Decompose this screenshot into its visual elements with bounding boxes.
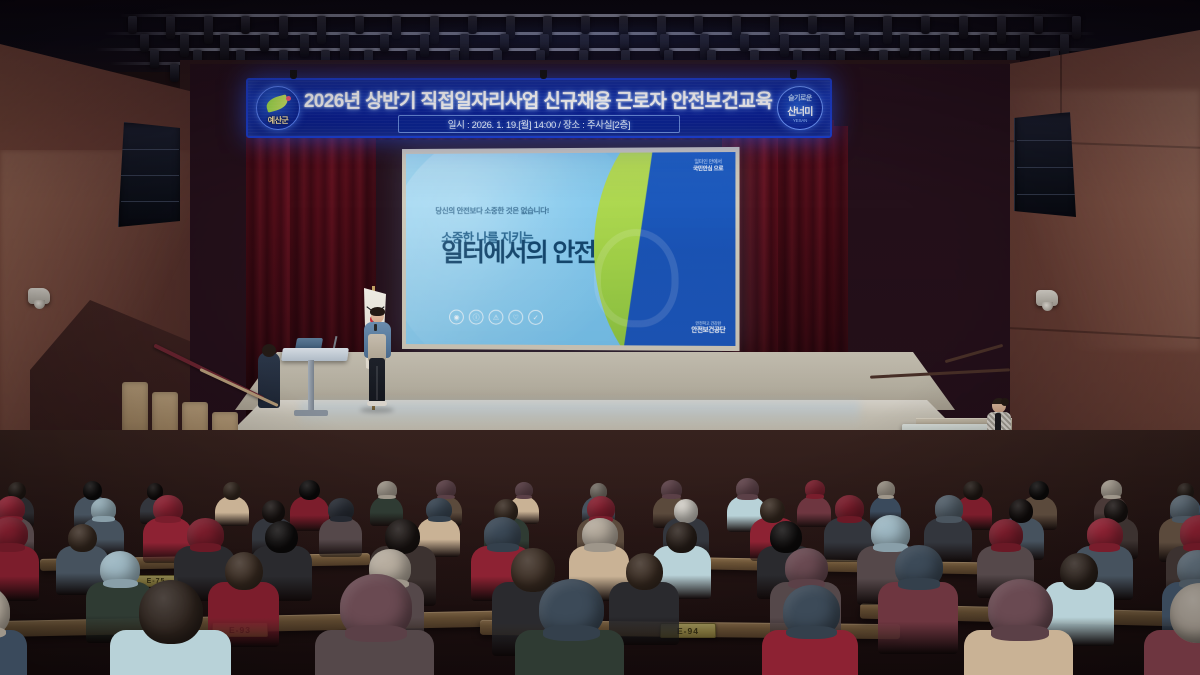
line-array-speaker <box>118 122 182 229</box>
audience-member-hat <box>539 579 604 639</box>
audience-member-hat <box>988 579 1053 638</box>
stage-light-fixture <box>1034 16 1043 34</box>
slogan-line1: 슬기로운 <box>788 93 812 103</box>
presenter-speaking <box>362 308 392 410</box>
audience-member-body <box>319 518 362 557</box>
slogan-line3: YESAN <box>793 118 807 123</box>
audience-member-hat <box>436 480 456 498</box>
banner-subtitle: 일시 : 2026. 1. 19.[월] 14:00 / 장소 : 주사실[2층… <box>398 115 680 133</box>
audience-member-body <box>878 582 958 654</box>
audience-member-head <box>223 482 241 500</box>
audience-member-hat <box>582 518 618 551</box>
audience-member-body <box>215 496 249 526</box>
audience-member-hat <box>805 480 825 499</box>
staff-hair-bun <box>1001 398 1009 406</box>
audience-member-hat <box>377 481 397 499</box>
audience-member-head <box>674 499 699 524</box>
audience-member-hat <box>989 519 1023 550</box>
audience-member-head <box>225 552 263 590</box>
audience-member-hat <box>153 495 182 522</box>
lighting-truss <box>120 14 1080 17</box>
led-banner: 예산군 2026년 상반기 직접일자리사업 신규채용 근로자 안전보건교육 일시… <box>246 78 832 138</box>
banner-mount <box>790 70 797 79</box>
ceiling-glow <box>200 18 1000 58</box>
audience-member-body <box>0 546 39 601</box>
audience-member-hat <box>187 518 223 551</box>
screen-glare <box>406 152 736 346</box>
audience-member-hat <box>0 517 28 550</box>
audience-member-hat <box>340 574 411 639</box>
audience-member-hat <box>661 480 682 499</box>
audience-member-head <box>299 480 320 501</box>
banner-mount <box>290 70 297 79</box>
audience-member-head <box>770 521 802 553</box>
stage-light-fixture <box>128 16 137 34</box>
audience-member-body <box>0 630 27 675</box>
audience-member-head <box>1060 553 1098 591</box>
audience-member-head <box>963 481 983 501</box>
audience-member-hat <box>1087 518 1122 550</box>
audience-member-hat <box>783 585 841 637</box>
projection-screen: 일터인 안에서 국민안심 으로 당신의 안전보다 소중한 것은 없습니다! 소중… <box>402 147 740 351</box>
slogan-line2: 산너미 <box>787 103 812 118</box>
audience-member-hat <box>877 481 896 498</box>
stage-light-fixture <box>180 34 189 57</box>
presentation-slide: 일터인 안에서 국민안심 으로 당신의 안전보다 소중한 것은 없습니다! 소중… <box>406 152 736 346</box>
audience-member-hat <box>328 498 354 521</box>
stage-light-fixture <box>140 34 149 52</box>
audience-member-head <box>666 522 697 553</box>
audience-member-hat <box>895 545 943 589</box>
audience-member-body <box>797 496 831 527</box>
audience-member-head <box>139 580 204 645</box>
yesan-gun-label: 예산군 <box>268 115 289 129</box>
audience-member-hat <box>91 498 117 521</box>
banner-title: 2026년 상반기 직접일자리사업 신규채용 근로자 안전보건교육 <box>304 85 772 113</box>
stage-light-fixture <box>1072 16 1081 39</box>
presenter-shoes <box>367 401 387 406</box>
stage-assistant-head <box>262 344 276 357</box>
podium-base <box>294 410 328 416</box>
handheld-microphone <box>374 324 377 331</box>
audience-member-hat <box>935 495 964 521</box>
stage-light-fixture <box>170 64 179 82</box>
yesan-slogan-logo: 슬기로운 산너미 YESAN <box>777 86 823 130</box>
audience-member-hat <box>100 551 140 588</box>
audience-member-hat <box>515 482 533 499</box>
security-camera <box>1036 290 1058 306</box>
audience-member-hat <box>871 515 910 551</box>
audience-member-hat <box>736 478 760 499</box>
podium-leg <box>308 360 314 412</box>
audience-member-hat <box>785 548 828 587</box>
laptop-podium <box>281 348 349 361</box>
audience-area: E-93 E-94 E-75 <box>0 430 1200 675</box>
auditorium-photo: 일터인 안에서 국민안심 으로 당신의 안전보다 소중한 것은 없습니다! 소중… <box>0 0 1200 675</box>
stage-light-fixture <box>166 16 175 39</box>
presenter-hair <box>370 307 385 316</box>
audience-member-hat <box>426 498 452 522</box>
yesan-gun-emblem-icon: 예산군 <box>256 86 300 130</box>
audience-member-head <box>68 524 97 553</box>
line-array-speaker <box>1014 112 1078 222</box>
security-camera <box>28 288 50 304</box>
audience-member-head <box>511 548 555 592</box>
stage-light-fixture <box>1020 34 1029 57</box>
audience-member-head <box>262 500 285 523</box>
audience-member-hat <box>484 517 521 550</box>
audience-member-hat <box>835 495 864 522</box>
audience-member-hat <box>1101 480 1121 499</box>
stage-light-fixture <box>150 50 159 68</box>
audience-member-head <box>265 521 298 554</box>
audience-member-head <box>626 553 663 590</box>
audience-member-head <box>1029 481 1049 501</box>
banner-mount <box>540 70 547 79</box>
